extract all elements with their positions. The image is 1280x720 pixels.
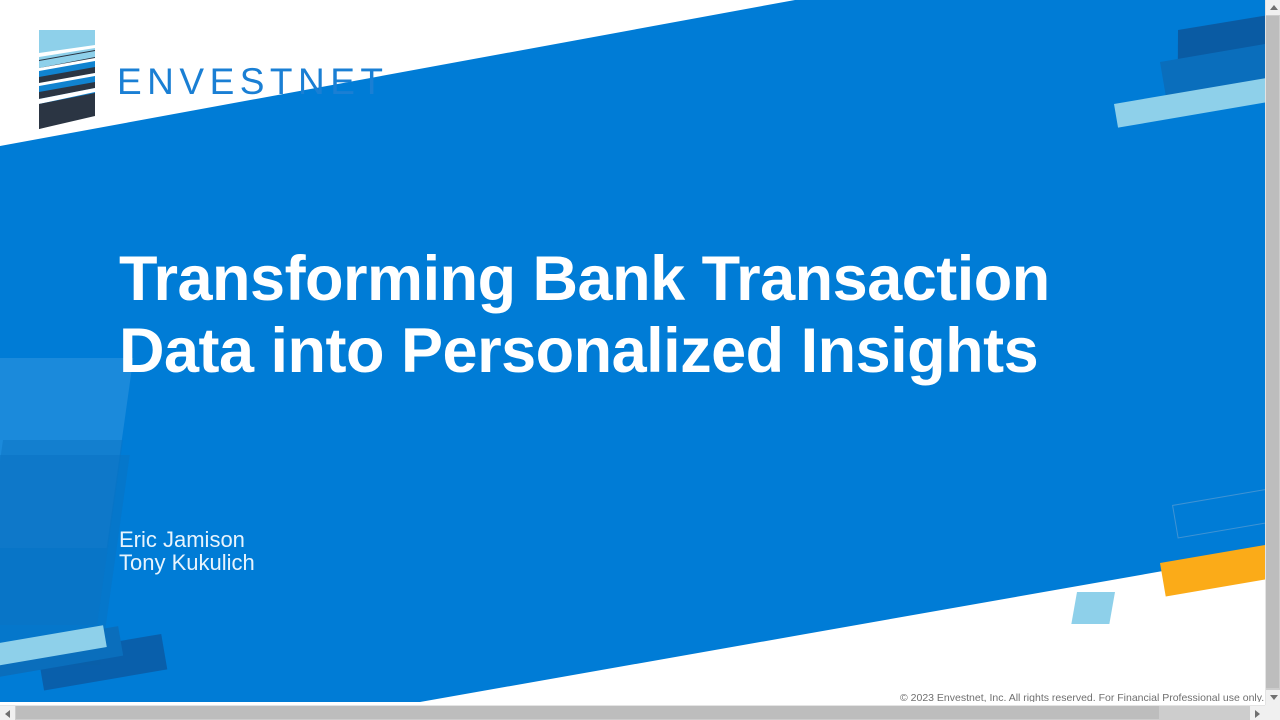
title-line-2: Data into Personalized Insights bbox=[119, 315, 1119, 387]
triangle-down-icon bbox=[1270, 695, 1278, 700]
scroll-up-button[interactable] bbox=[1266, 0, 1280, 15]
horizontal-scrollbar-thumb[interactable] bbox=[16, 706, 1159, 719]
title-line-1: Transforming Bank Transaction bbox=[119, 243, 1119, 315]
triangle-right-icon bbox=[1255, 710, 1260, 718]
scroll-right-button[interactable] bbox=[1250, 706, 1265, 720]
copyright-footer: © 2023 Envestnet, Inc. All rights reserv… bbox=[900, 692, 1264, 702]
presentation-slide: ENVESTNET Transforming Bank Transaction … bbox=[0, 0, 1265, 702]
slide-viewer: ENVESTNET Transforming Bank Transaction … bbox=[0, 0, 1280, 720]
presenter-list: Eric Jamison Tony Kukulich bbox=[119, 529, 255, 574]
vertical-scrollbar-thumb[interactable] bbox=[1266, 16, 1279, 688]
triangle-up-icon bbox=[1270, 5, 1278, 10]
envestnet-stacked-chevrons-logo-icon bbox=[33, 30, 101, 133]
triangle-left-icon bbox=[5, 710, 10, 718]
envestnet-wordmark: ENVESTNET bbox=[117, 63, 389, 100]
vertical-scrollbar[interactable] bbox=[1265, 0, 1280, 705]
presenter-name-1: Eric Jamison bbox=[119, 529, 255, 552]
slide-scroll-area[interactable]: ENVESTNET Transforming Bank Transaction … bbox=[0, 0, 1265, 705]
presenter-name-2: Tony Kukulich bbox=[119, 552, 255, 575]
scrollbar-corner bbox=[1265, 705, 1280, 720]
scroll-left-button[interactable] bbox=[0, 706, 15, 720]
envestnet-logo: ENVESTNET bbox=[33, 30, 389, 133]
scroll-down-button[interactable] bbox=[1266, 690, 1280, 705]
page-title: Transforming Bank Transaction Data into … bbox=[119, 243, 1119, 387]
bottom-right-cyan-parallelogram bbox=[1071, 592, 1115, 624]
horizontal-scrollbar[interactable] bbox=[0, 705, 1265, 720]
